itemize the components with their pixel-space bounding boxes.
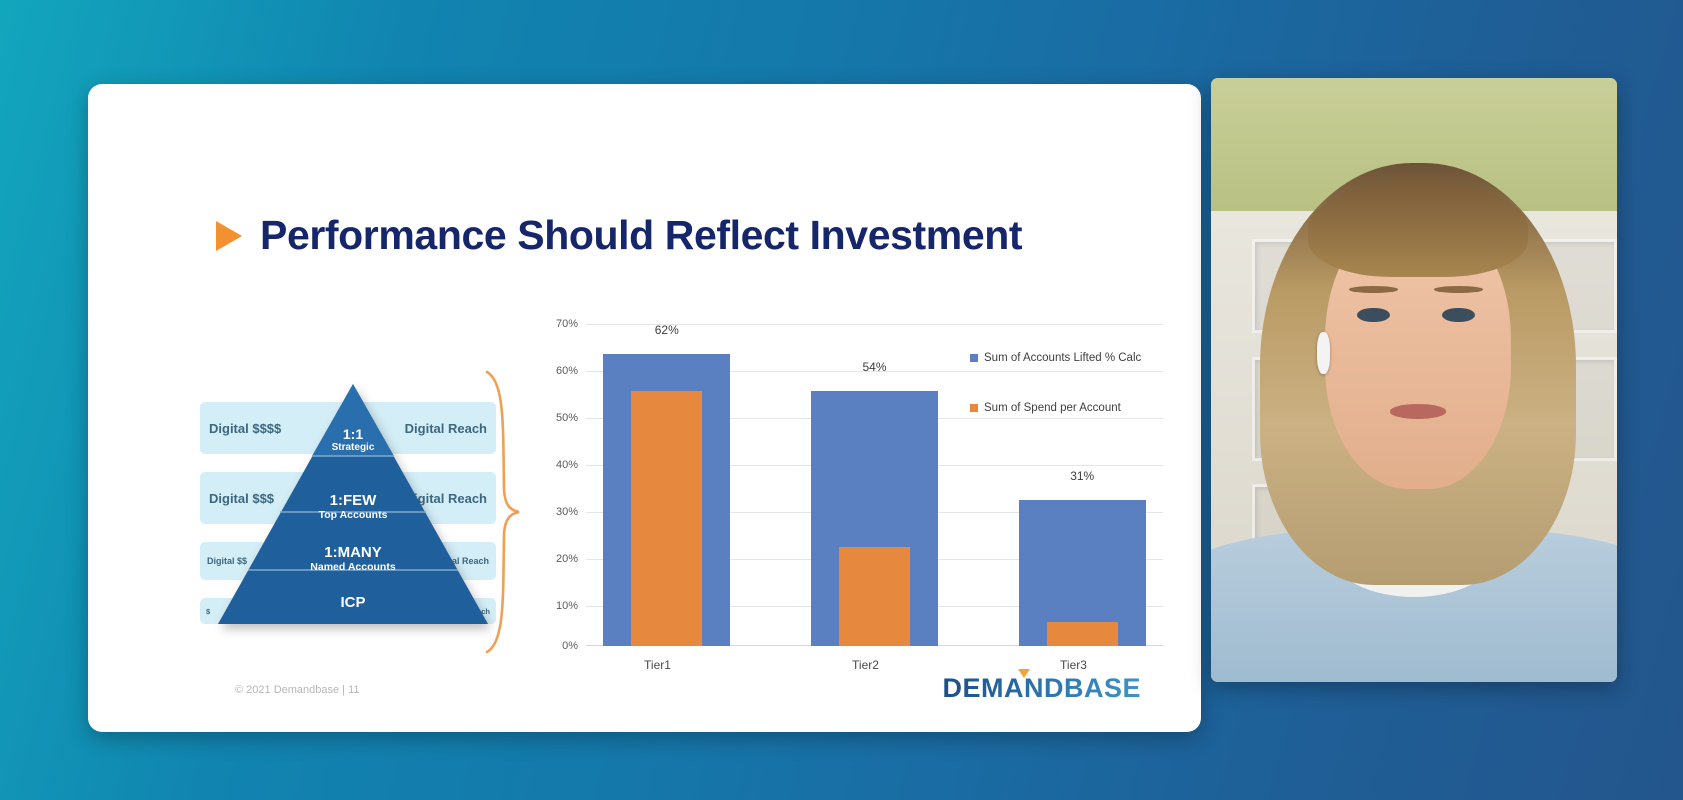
slide-title-row: Performance Should Reflect Investment [216,212,1022,259]
presenter-eye-right [1442,308,1474,322]
chart-legend: Sum of Accounts Lifted % Calc Sum of Spe… [970,352,1141,452]
pyramid-tier-text-1: 1:FEW Top Accounts [218,492,488,521]
legend-label-spend-per-account: Sum of Spend per Account [984,402,1121,414]
pyramid-tier-text-0: 1:1 Strategic [218,426,488,454]
pyramid-tier-sub-2: Named Accounts [218,561,488,573]
pyramid-tier-name-3: ICP [218,594,488,611]
page-title: Performance Should Reflect Investment [260,212,1022,259]
bar-spend-per-account-tier2[interactable] [839,547,910,646]
legend-swatch-orange [970,404,978,412]
y-axis-tick: 20% [538,553,578,565]
bar-spend-per-account-tier1[interactable] [631,391,702,646]
y-axis-tick: 60% [538,365,578,377]
logo-triangle-icon [1018,669,1030,678]
bar-group-tier1[interactable]: 62% [603,316,730,646]
pyramid-tier-text-3: ICP [218,594,488,611]
logo-wordmark: DEMANDBASE [942,673,1141,704]
presenter-earbud [1317,332,1331,374]
bar-value-tier2: 54% [811,360,938,374]
x-axis-tick-tier2: Tier2 [797,658,934,672]
legend-item-accounts-lifted[interactable]: Sum of Accounts Lifted % Calc [970,352,1141,364]
presenter-mouth [1390,404,1447,418]
legend-label-accounts-lifted: Sum of Accounts Lifted % Calc [984,352,1141,364]
presenter-hair-fringe [1308,181,1527,278]
pyramid-tier-name-0: 1:1 [218,426,488,442]
y-axis-tick: 10% [538,600,578,612]
pyramid-tier-name-1: 1:FEW [218,492,488,509]
pyramid-tier-sub-0: Strategic [218,442,488,454]
pyramid-tier-name-2: 1:MANY [218,544,488,561]
play-triangle-icon [216,221,242,251]
slide-footer-copyright: © 2021 Demandbase | 11 [235,684,360,696]
y-axis-tick: 30% [538,506,578,518]
pyramid-left-label-3: $ [206,607,210,616]
demandbase-logo: DEMANDBASE [942,673,1141,704]
curly-brace-icon [483,370,521,654]
pyramid-tier-sub-1: Top Accounts [218,509,488,521]
y-axis-tick: 40% [538,459,578,471]
y-axis-tick: 0% [538,640,578,652]
legend-swatch-blue [970,354,978,362]
presenter-video-panel[interactable] [1211,78,1617,682]
pyramid-tier-text-2: 1:MANY Named Accounts [218,544,488,573]
bar-chart: 70% 60% 50% 40% 30% 20% 10% 0% 62% 54% 3… [538,316,1163,684]
x-axis-tick-tier1: Tier1 [589,658,726,672]
pyramid-diagram: Digital $$$$ Digital Reach Digital $$$ D… [200,384,510,654]
bar-group-tier2[interactable]: 54% [811,316,938,646]
presenter-eye-left [1357,308,1389,322]
presentation-slide: Performance Should Reflect Investment Di… [88,84,1201,732]
bar-spend-per-account-tier3[interactable] [1047,622,1118,646]
legend-item-spend-per-account[interactable]: Sum of Spend per Account [970,402,1141,414]
bar-value-tier3: 31% [1019,469,1146,483]
presenter-eyebrow-left [1349,286,1398,293]
y-axis-tick: 50% [538,412,578,424]
bar-value-tier1: 62% [603,323,730,337]
presenter-eyebrow-right [1434,286,1483,293]
y-axis-tick: 70% [538,318,578,330]
